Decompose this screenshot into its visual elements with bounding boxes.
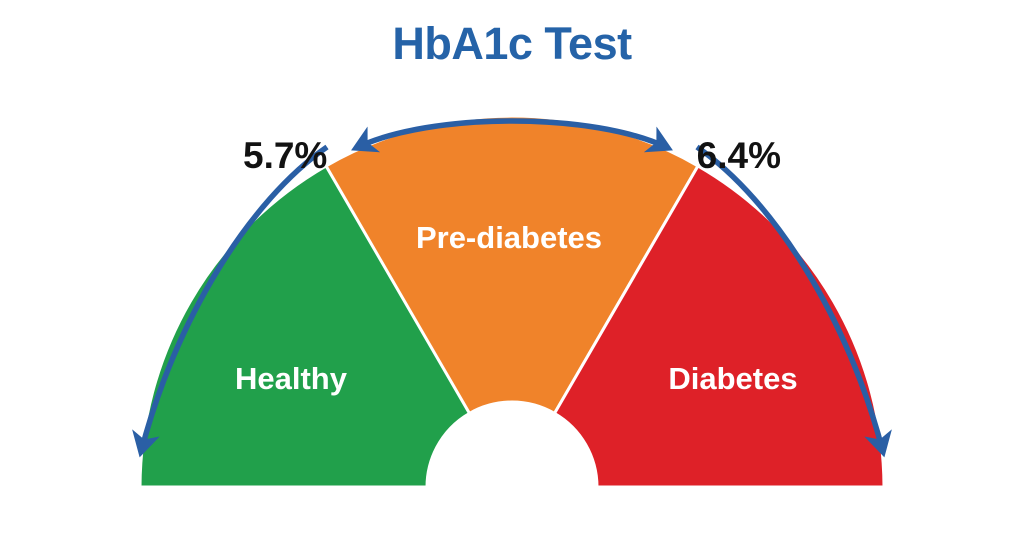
segment-label-prediabetes: Pre-diabetes: [416, 220, 602, 255]
threshold-label-upper: 6.4%: [697, 135, 781, 176]
segment-label-diabetes: Diabetes: [668, 361, 797, 396]
threshold-label-lower: 5.7%: [243, 135, 327, 176]
segment-label-healthy: Healthy: [235, 361, 348, 396]
gauge-page: HbA1c Test Healthy Pre-diabetes Diabetes: [0, 0, 1024, 536]
hba1c-gauge-chart: Healthy Pre-diabetes Diabetes 5.7% 6.4%: [0, 0, 1024, 536]
